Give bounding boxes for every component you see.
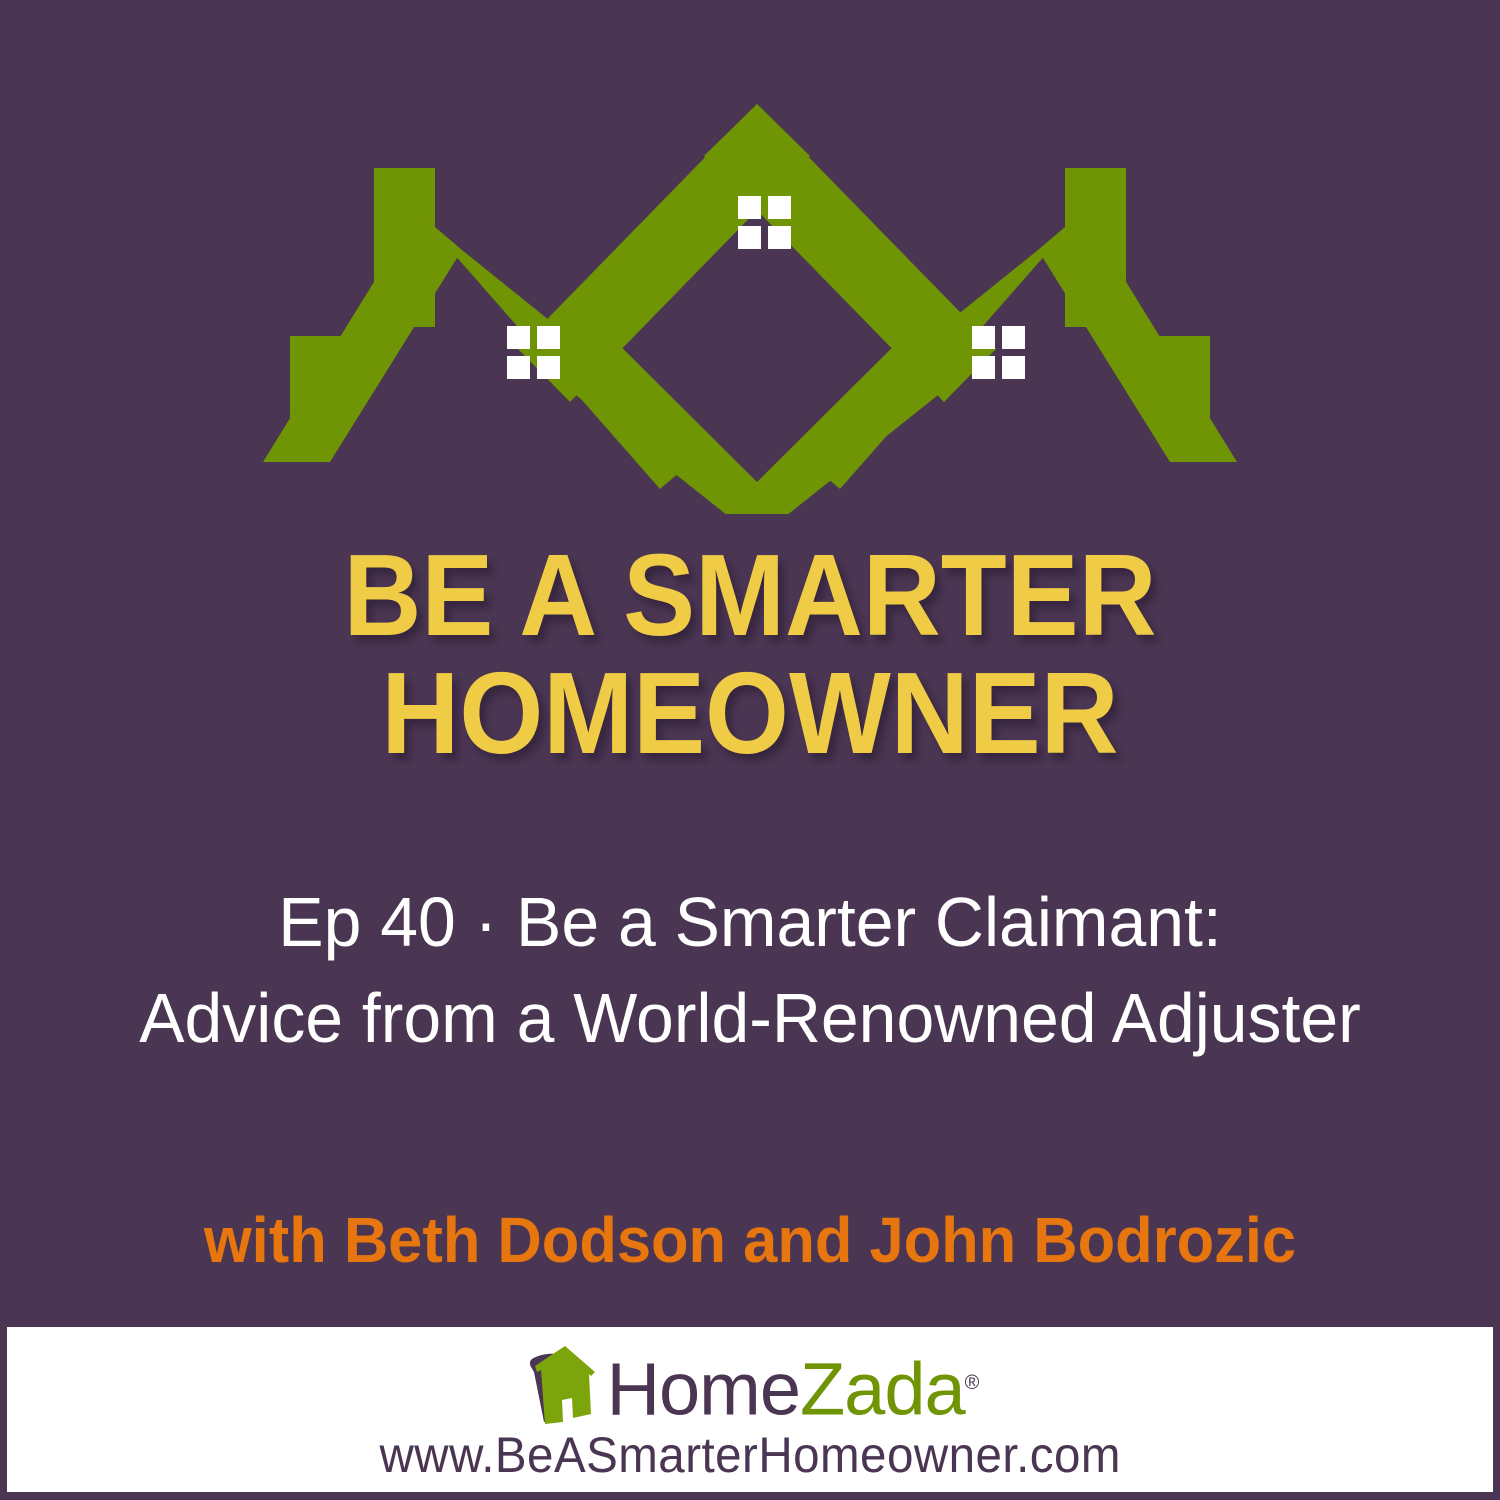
footer-panel: HomeZada® www.BeASmarterHomeowner.com (7, 1327, 1493, 1492)
show-title: BE A SMARTER HOMEOWNER (53, 536, 1448, 772)
three-rooftops-house-icon (0, 44, 1500, 514)
episode-title-line-2: Advice from a World-Renowned Adjuster (23, 970, 1478, 1066)
brand-word-home: Home (607, 1347, 800, 1430)
podcast-cover-art: BE A SMARTER HOMEOWNER Ep 40 · Be a Smar… (0, 0, 1500, 1500)
episode-title: Ep 40 · Be a Smarter Claimant: Advice fr… (23, 874, 1478, 1066)
brand-word-zada: Zada (800, 1347, 965, 1430)
homezada-wordmark: HomeZada® (607, 1346, 980, 1427)
show-title-line-1: BE A SMARTER (53, 536, 1448, 654)
show-title-line-2: HOMEOWNER (53, 654, 1448, 772)
registered-mark-icon: ® (965, 1372, 980, 1394)
episode-title-line-1: Ep 40 · Be a Smarter Claimant: (23, 874, 1478, 970)
website-url[interactable]: www.BeASmarterHomeowner.com (379, 1427, 1120, 1483)
hosts-credit: with Beth Dodson and John Bodrozic (30, 1205, 1470, 1275)
homezada-brand[interactable]: HomeZada® (521, 1341, 980, 1427)
homezada-house-icon (521, 1342, 601, 1426)
